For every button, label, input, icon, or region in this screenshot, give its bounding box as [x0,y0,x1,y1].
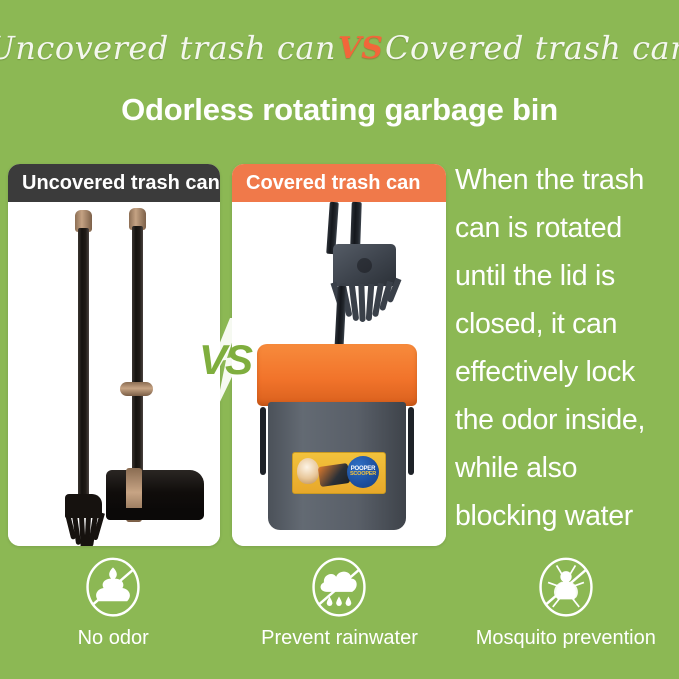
page-title: Uncovered trash can VS Covered trash can [0,22,679,74]
feature-row: No odor Prevent rainwater [0,556,679,674]
feature-no-odor: No odor [0,556,226,674]
pan-pole-icon [132,226,143,476]
description-text: When the trash can is rotated until the … [455,156,677,540]
panel-uncovered-image [8,202,220,546]
title-right-text: Covered trash can [385,29,679,67]
title-vs-text: VS [336,31,385,66]
paw-print-icon [357,258,372,273]
feature-label: No odor [78,627,149,650]
feature-label: Mosquito prevention [476,627,656,650]
panel-covered-label: Covered trash can [246,172,421,195]
page-subtitle: Odorless rotating garbage bin [0,92,679,128]
sticker-brand-bottom: SCOOPER [350,472,376,478]
feature-label: Prevent rainwater [261,627,418,650]
panel-covered-header: Covered trash can [232,164,446,202]
feature-prevent-rainwater: Prevent rainwater [226,556,452,674]
no-mosquito-icon [532,556,600,622]
product-sticker: POOPER SCOOPER [292,452,386,494]
no-odor-icon [79,556,147,622]
bin-pole-icon [350,202,362,246]
pan-pole-collar-icon [120,382,153,396]
panel-uncovered-header: Uncovered trash can [8,164,220,202]
bin-lid-icon [257,344,417,406]
rake-pole-icon [78,228,89,503]
feature-mosquito-prevention: Mosquito prevention [453,556,679,674]
panel-uncovered-label: Uncovered trash can [22,172,220,195]
panel-covered-image: POOPER SCOOPER [232,202,446,546]
sticker-brand-badge: POOPER SCOOPER [347,456,379,488]
no-rainwater-icon [305,556,373,622]
bin-side-handle-left-icon [260,407,266,475]
dustpan-lip-icon [106,508,204,520]
title-left-text: Uncovered trash can [0,29,336,67]
panel-uncovered: Uncovered trash can [8,164,220,546]
panel-covered: Covered trash can POOPER SCOOPER [232,164,446,546]
sticker-product-image [318,463,350,487]
sticker-dog-image [297,458,319,484]
scoop-tine [358,284,365,322]
bin-side-handle-right-icon [408,407,414,475]
